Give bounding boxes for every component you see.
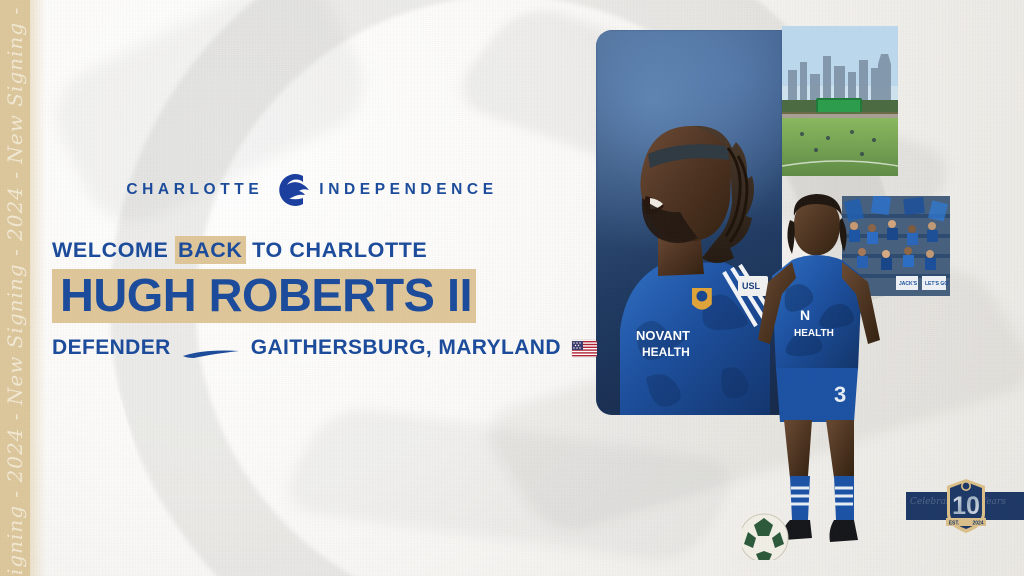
signing-announcement-graphic: NOVANT HEALTH USL: [0, 0, 1024, 576]
new-signing-side-strip: New Signing - 2024 - New Signing - 2024 …: [0, 0, 30, 576]
welcome-line: WELCOME BACK TO CHARLOTTE: [52, 238, 572, 263]
swoosh-divider-icon: [182, 342, 240, 354]
welcome-highlight: BACK: [175, 236, 246, 264]
anniversary-shield-icon: 10 EST. 2024: [944, 478, 988, 534]
svg-text:HEALTH: HEALTH: [642, 345, 690, 359]
anniversary-est: EST.: [949, 521, 960, 527]
us-flag-icon: [572, 340, 597, 357]
skyline-content: [782, 26, 898, 176]
wordmark-charlotte: CHARLOTTE: [126, 181, 263, 199]
side-strip-text: New Signing - 2024 - New Signing - 2024 …: [3, 0, 27, 576]
svg-text:HEALTH: HEALTH: [794, 328, 834, 339]
player-name-bar: HUGH ROBERTS II: [52, 269, 476, 323]
club-wordmark: CHARLOTTE INDEPENDENCE: [52, 168, 572, 212]
svg-text:3: 3: [834, 382, 846, 407]
player-details-line: DEFENDER GAITHERSBURG, MARYLAND: [52, 336, 572, 360]
anniversary-year: 2024: [972, 521, 983, 527]
svg-text:LET'S GO: LET'S GO: [925, 281, 948, 287]
anniversary-number: 10: [952, 492, 980, 520]
svg-text:N: N: [800, 307, 810, 323]
ten-year-anniversary-badge: Celebrating 10 Years 10 EST. 2024: [906, 478, 1024, 534]
welcome-pre: WELCOME: [52, 238, 175, 262]
independence-crest-icon: [269, 168, 313, 212]
charlotte-skyline-stadium-photo: [782, 26, 898, 176]
player-with-ball-cutout: N HEALTH 3: [742, 190, 922, 560]
welcome-post: TO CHARLOTTE: [246, 238, 428, 262]
player-position: DEFENDER: [52, 336, 171, 360]
player-hometown: GAITHERSBURG, MARYLAND: [251, 336, 561, 360]
player-name: HUGH ROBERTS II: [60, 272, 472, 318]
strip-fade: [30, 0, 46, 576]
watermark-shape-4: [275, 404, 746, 566]
wordmark-independence: INDEPENDENCE: [319, 181, 497, 199]
announcement-text-block: CHARLOTTE INDEPENDENCE WELCOME BACK TO C…: [52, 168, 572, 360]
svg-text:NOVANT: NOVANT: [636, 328, 690, 343]
